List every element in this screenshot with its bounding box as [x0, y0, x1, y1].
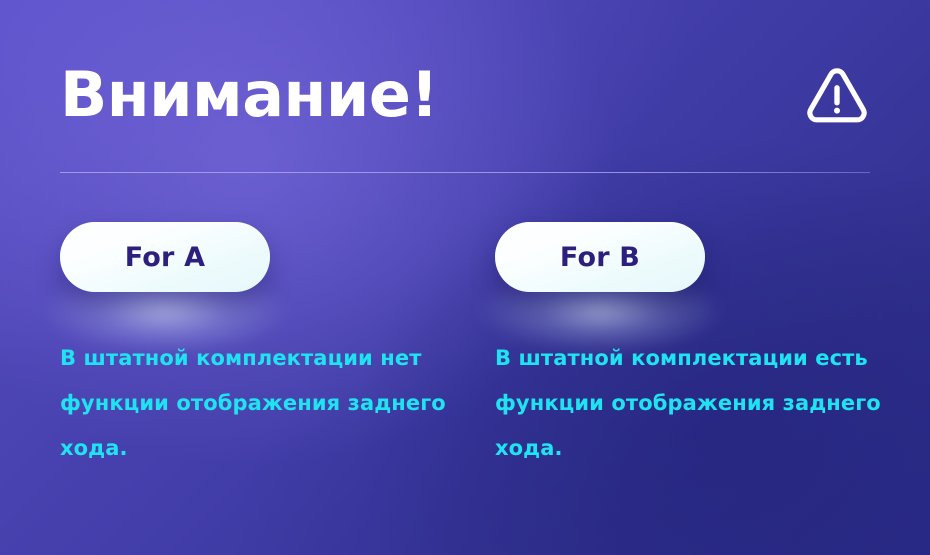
pill-wrap-for-b: For B	[495, 222, 705, 292]
column-for-a: For A В штатной комплектации нет функции…	[60, 222, 495, 471]
page-title: Внимание!	[60, 62, 438, 127]
for-b-button[interactable]: For B	[495, 222, 705, 292]
for-a-button[interactable]: For A	[60, 222, 270, 292]
for-a-caption: В штатной комплектации нет функции отобр…	[60, 292, 455, 471]
slide-header: Внимание!	[60, 52, 870, 138]
for-b-caption: В штатной комплектации есть функции отоб…	[495, 292, 895, 471]
warning-slide: Внимание! For A В штатной комплектации н…	[0, 0, 930, 555]
pill-wrap-for-a: For A	[60, 222, 270, 292]
column-for-b: For B В штатной комплектации есть функци…	[495, 222, 930, 471]
comparison-columns: For A В штатной комплектации нет функции…	[60, 222, 878, 471]
slide-content: Внимание! For A В штатной комплектации н…	[0, 0, 930, 555]
warning-triangle-icon	[804, 62, 870, 128]
header-divider	[60, 172, 870, 173]
